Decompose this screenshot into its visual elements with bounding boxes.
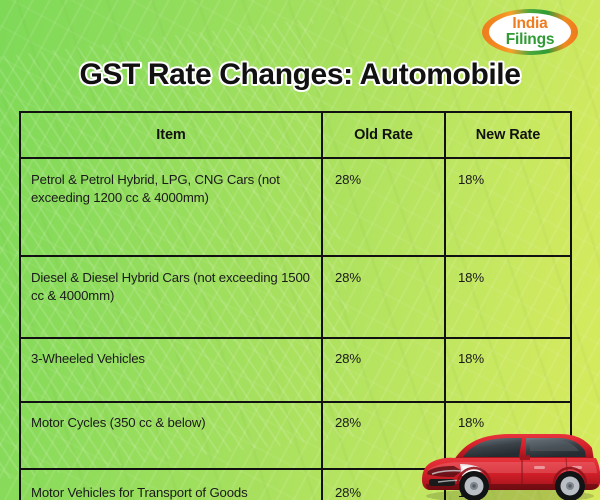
- logo-text-india: India: [512, 16, 547, 32]
- logo-text-filings: Filings: [506, 32, 555, 48]
- table-row: Petrol & Petrol Hybrid, LPG, CNG Cars (n…: [20, 158, 571, 256]
- column-header-new-rate: New Rate: [445, 112, 571, 158]
- cell-old-rate: 28%: [322, 158, 445, 256]
- cell-old-rate: 28%: [322, 256, 445, 338]
- cell-new-rate: 18%: [445, 256, 571, 338]
- cell-item: Motor Cycles (350 cc & below): [20, 402, 322, 469]
- cell-item: 3-Wheeled Vehicles: [20, 338, 322, 402]
- logo-inner: India Filings: [489, 13, 571, 51]
- table-row: 3-Wheeled Vehicles 28% 18%: [20, 338, 571, 402]
- poster-canvas: India Filings GST Rate Changes: Automobi…: [0, 0, 600, 500]
- cell-item: Motor Vehicles for Transport of Goods: [20, 469, 322, 500]
- cell-new-rate: 18%: [445, 338, 571, 402]
- indiafilings-logo: India Filings: [482, 9, 578, 55]
- page-title: GST Rate Changes: Automobile: [0, 58, 600, 92]
- red-sedan-car-image: [418, 424, 600, 500]
- table-header: Item Old Rate New Rate: [20, 112, 571, 158]
- cell-old-rate: 28%: [322, 338, 445, 402]
- gst-rate-table-container: Item Old Rate New Rate Petrol & Petrol H…: [19, 111, 564, 446]
- car-rear-wheel: [555, 471, 585, 500]
- car-front-wheel: [459, 471, 489, 500]
- cell-item: Diesel & Diesel Hybrid Cars (not exceedi…: [20, 256, 322, 338]
- table-header-row: Item Old Rate New Rate: [20, 112, 571, 158]
- cell-new-rate: 18%: [445, 158, 571, 256]
- table-row: Diesel & Diesel Hybrid Cars (not exceedi…: [20, 256, 571, 338]
- cell-item: Petrol & Petrol Hybrid, LPG, CNG Cars (n…: [20, 158, 322, 256]
- column-header-item: Item: [20, 112, 322, 158]
- column-header-old-rate: Old Rate: [322, 112, 445, 158]
